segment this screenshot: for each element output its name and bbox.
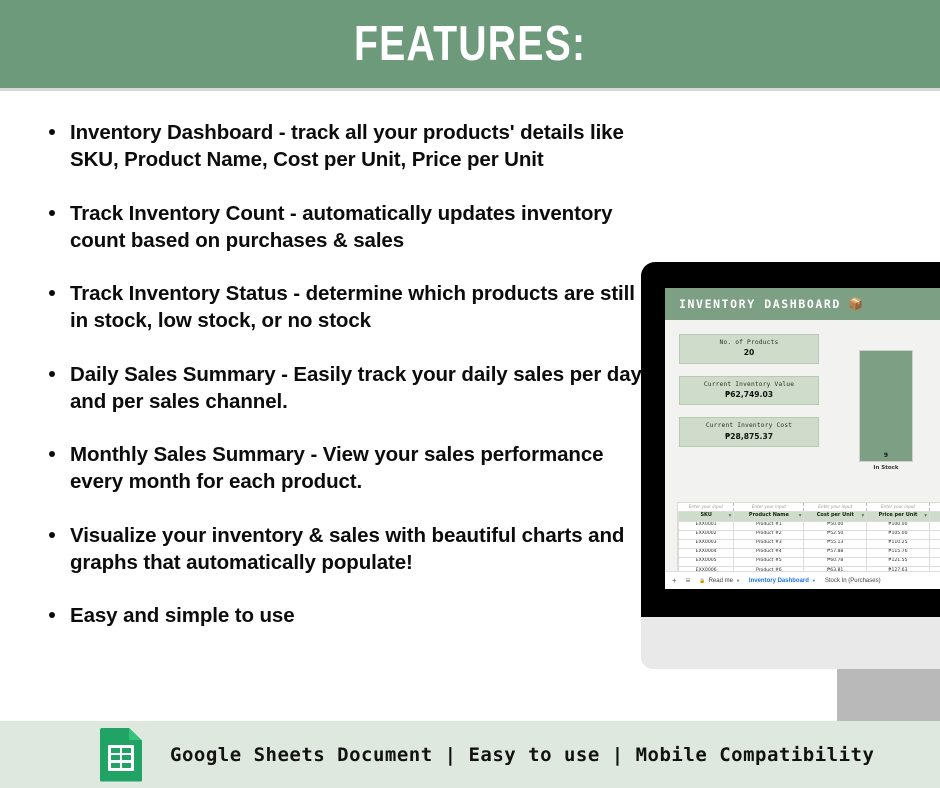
sheet-tab-bar[interactable]: + ≡ 🔒 Read me ▼ Inventory Dashboard ▼ St… (665, 571, 940, 589)
table-input-hint: Enter your input (679, 503, 734, 511)
sheet-tab-label: Stock In (Purchases) (825, 578, 881, 584)
list-item: Track Inventory Count - automatically up… (40, 200, 645, 255)
table-column-header[interactable]: Initial Qty.▼ (929, 511, 940, 521)
bar-rect: 9 (859, 350, 913, 462)
kpi-card-inventory-value: Current Inventory Value ₱62,749.03 (679, 376, 819, 406)
all-sheets-menu-icon[interactable]: ≡ (686, 576, 691, 585)
list-item: Track Inventory Status - determine which… (40, 280, 645, 335)
table-row[interactable]: EXX0002Product #2₱52.50₱105.00100 (679, 530, 940, 539)
table-cell[interactable]: Product #5 (734, 557, 804, 566)
table-cell[interactable]: 10 (929, 521, 940, 530)
monitor-stand (837, 669, 940, 729)
lock-icon: 🔒 (699, 578, 705, 584)
table-row[interactable]: EXX0005Product #5₱60.78₱121.55100 (679, 557, 940, 566)
table-cell[interactable]: EXX0004 (679, 548, 734, 557)
kpi-value: ₱62,749.03 (682, 389, 816, 400)
sheet-tab-inventory-dashboard[interactable]: Inventory Dashboard ▼ (749, 578, 816, 584)
page-header: FEATURES: (0, 0, 940, 88)
table-column-header[interactable]: Product Name▼ (734, 511, 804, 521)
sheet-tab-label: Read me (709, 578, 733, 584)
monitor-chin (641, 617, 940, 669)
filter-caret-icon[interactable]: ▼ (799, 514, 802, 519)
sheet-tab-label: Inventory Dashboard (749, 578, 809, 584)
table-cell[interactable]: ₱115.76 (867, 548, 930, 557)
table-cell[interactable]: 100 (929, 557, 940, 566)
kpi-card-inventory-cost: Current Inventory Cost ₱28,875.37 (679, 417, 819, 447)
page-title: FEATURES: (354, 16, 586, 72)
dashboard-body: No. of Products 20 Current Inventory Val… (665, 320, 940, 589)
table-cell[interactable]: 100 (929, 539, 940, 548)
chart-bar-in-stock: 9 In Stock (859, 350, 913, 471)
sheet-tab-read-me[interactable]: 🔒 Read me ▼ (699, 578, 740, 584)
kpi-card-group: No. of Products 20 Current Inventory Val… (679, 334, 819, 459)
inventory-status-chart: Inventory Status 9 In Stock 6 Low Stock (833, 332, 940, 487)
table-cell[interactable]: 100 (929, 548, 940, 557)
table-cell[interactable]: EXX0002 (679, 530, 734, 539)
list-item: Easy and simple to use (40, 602, 645, 629)
table-cell[interactable]: ₱121.55 (867, 557, 930, 566)
kpi-label: No. of Products (682, 338, 816, 347)
kpi-card-products: No. of Products 20 (679, 334, 819, 364)
table-cell[interactable]: ₱110.25 (867, 539, 930, 548)
list-item: Visualize your inventory & sales with be… (40, 522, 645, 577)
table-cell[interactable]: Product #4 (734, 548, 804, 557)
chevron-down-icon[interactable]: ▼ (812, 578, 816, 583)
bar-value: 9 (860, 452, 912, 459)
filter-caret-icon[interactable]: ▼ (729, 514, 732, 519)
content-area: Inventory Dashboard - track all your pro… (0, 91, 940, 719)
table-column-header[interactable]: Price per Unit▼ (867, 511, 930, 521)
filter-caret-icon[interactable]: ▼ (861, 514, 864, 519)
kpi-value: 20 (682, 347, 816, 358)
monitor-mockup: INVENTORY DASHBOARD 📦 No. of Products 20… (641, 262, 940, 617)
list-item: Inventory Dashboard - track all your pro… (40, 119, 645, 174)
table-cell[interactable]: Product #1 (734, 521, 804, 530)
google-sheets-icon (100, 728, 142, 782)
table-row[interactable]: EXX0003Product #3₱55.13₱110.25100 (679, 539, 940, 548)
footer-bar: Google Sheets Document | Easy to use | M… (0, 721, 940, 788)
add-sheet-icon[interactable]: + (672, 576, 677, 585)
bar-label: In Stock (873, 465, 898, 471)
package-icon: 📦 (848, 297, 863, 311)
table-cell[interactable]: Product #2 (734, 530, 804, 539)
spreadsheet-screen: INVENTORY DASHBOARD 📦 No. of Products 20… (665, 288, 940, 589)
table-input-hint: Enter your input (929, 503, 940, 511)
table-input-hint-row: Enter your inputEnter your inputEnter yo… (679, 503, 940, 511)
table-cell[interactable]: 100 (929, 530, 940, 539)
table-cell[interactable]: ₱55.13 (804, 539, 867, 548)
filter-caret-icon[interactable]: ▼ (924, 514, 927, 519)
table-cell[interactable]: EXX0003 (679, 539, 734, 548)
table-cell[interactable]: ₱50.00 (804, 521, 867, 530)
table-column-header[interactable]: SKU▼ (679, 511, 734, 521)
table-cell[interactable]: ₱105.00 (867, 530, 930, 539)
table-cell[interactable]: EXX0005 (679, 557, 734, 566)
table-header-row: SKU▼Product Name▼Cost per Unit▼Price per… (679, 511, 940, 521)
list-item: Daily Sales Summary - Easily track your … (40, 361, 645, 416)
table-row[interactable]: EXX0001Product #1₱50.00₱100.0010 (679, 521, 940, 530)
table-input-hint: Enter your input (804, 503, 867, 511)
sheet-tab-stock-in-purchases[interactable]: Stock In (Purchases) (825, 578, 881, 584)
footer-text: Google Sheets Document | Easy to use | M… (170, 744, 874, 766)
table-cell[interactable]: ₱60.78 (804, 557, 867, 566)
table-cell[interactable]: ₱100.00 (867, 521, 930, 530)
table-cell[interactable]: ₱52.50 (804, 530, 867, 539)
kpi-label: Current Inventory Value (682, 380, 816, 389)
list-item: Monthly Sales Summary - View your sales … (40, 441, 645, 496)
dashboard-title-bar: INVENTORY DASHBOARD 📦 (665, 288, 940, 320)
table-cell[interactable]: EXX0001 (679, 521, 734, 530)
table-cell[interactable]: ₱57.88 (804, 548, 867, 557)
kpi-value: ₱28,875.37 (682, 431, 816, 442)
table-row[interactable]: EXX0004Product #4₱57.88₱115.76100 (679, 548, 940, 557)
feature-list: Inventory Dashboard - track all your pro… (40, 119, 645, 655)
kpi-label: Current Inventory Cost (682, 421, 816, 430)
table-column-header[interactable]: Cost per Unit▼ (804, 511, 867, 521)
chevron-down-icon[interactable]: ▼ (736, 578, 740, 583)
table-input-hint: Enter your input (867, 503, 930, 511)
table-cell[interactable]: Product #3 (734, 539, 804, 548)
dashboard-title: INVENTORY DASHBOARD (679, 297, 841, 311)
table-input-hint: Enter your input (734, 503, 804, 511)
